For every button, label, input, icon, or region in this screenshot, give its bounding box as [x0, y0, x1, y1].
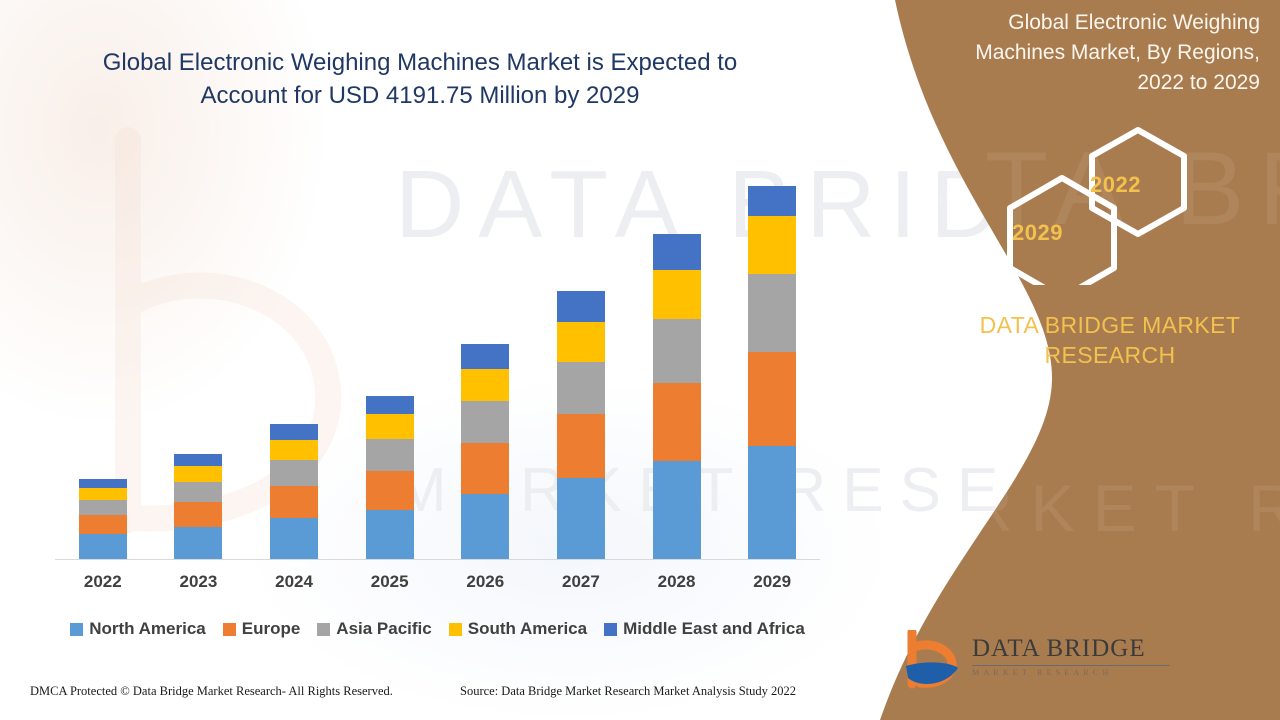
footer-source: Source: Data Bridge Market Research Mark… [460, 684, 796, 699]
chart-baseline [55, 559, 820, 560]
bar-segment-south-america [270, 440, 318, 460]
chart-legend: North AmericaEuropeAsia PacificSouth Ame… [55, 616, 820, 642]
bar-segment-asia-pacific [366, 439, 414, 471]
legend-item-asia-pacific[interactable]: Asia Pacific [317, 619, 431, 639]
bar-2023 [174, 454, 222, 559]
bar-segment-north-america [174, 527, 222, 559]
bar-segment-europe [653, 383, 701, 461]
bar-segment-south-america [748, 216, 796, 274]
hexagon-outline-icon [840, 120, 1280, 285]
bar-segment-asia-pacific [461, 401, 509, 443]
brand-panel: DATA BRIDGE MARKET RESEARCH Global Elect… [840, 0, 1280, 720]
bar-segment-north-america [653, 461, 701, 559]
bar-group [55, 170, 820, 559]
legend-swatch-icon [223, 623, 236, 636]
x-label-2028: 2028 [653, 572, 701, 598]
bar-segment-middle-east-and-africa [79, 479, 127, 488]
legend-label: Asia Pacific [336, 619, 431, 639]
bar-segment-middle-east-and-africa [270, 424, 318, 440]
x-label-2023: 2023 [174, 572, 222, 598]
bar-segment-north-america [748, 446, 796, 559]
legend-swatch-icon [317, 623, 330, 636]
bar-segment-middle-east-and-africa [748, 186, 796, 216]
data-bridge-logo-icon [900, 630, 964, 692]
bar-2022 [79, 479, 127, 559]
bar-2029 [748, 186, 796, 559]
x-label-2022: 2022 [79, 572, 127, 598]
hexagon-label-end-year: 2022 [1090, 172, 1141, 198]
legend-item-south-america[interactable]: South America [449, 619, 587, 639]
legend-swatch-icon [70, 623, 83, 636]
panel-watermark-bottom: MARKET RESEARCH [840, 470, 1280, 546]
bar-segment-europe [748, 352, 796, 446]
bar-segment-south-america [174, 466, 222, 482]
bar-segment-north-america [270, 518, 318, 559]
bar-segment-europe [270, 486, 318, 518]
x-label-2025: 2025 [366, 572, 414, 598]
bar-segment-europe [557, 414, 605, 478]
bar-segment-middle-east-and-africa [461, 344, 509, 369]
bar-segment-europe [366, 471, 414, 510]
bar-segment-south-america [366, 414, 414, 439]
bar-segment-north-america [79, 534, 127, 559]
logo-divider [972, 665, 1170, 666]
bar-segment-middle-east-and-africa [174, 454, 222, 466]
bar-segment-europe [461, 443, 509, 494]
bar-2027 [557, 291, 605, 559]
x-label-2027: 2027 [557, 572, 605, 598]
bar-segment-south-america [79, 488, 127, 500]
bar-segment-north-america [366, 510, 414, 559]
bar-segment-north-america [461, 494, 509, 559]
footer: DMCA Protected © Data Bridge Market Rese… [0, 684, 850, 706]
company-logo: DATA BRIDGE MARKET RESEARCH [900, 630, 1240, 694]
x-axis-labels: 20222023202420252026202720282029 [55, 572, 820, 598]
bar-segment-middle-east-and-africa [557, 291, 605, 322]
x-label-2026: 2026 [461, 572, 509, 598]
bar-segment-middle-east-and-africa [366, 396, 414, 414]
legend-item-north-america[interactable]: North America [70, 619, 206, 639]
bar-segment-south-america [461, 369, 509, 401]
legend-item-europe[interactable]: Europe [223, 619, 301, 639]
x-label-2029: 2029 [748, 572, 796, 598]
bar-segment-asia-pacific [653, 319, 701, 383]
panel-title: Global Electronic Weighing Machines Mark… [930, 8, 1260, 97]
bar-segment-asia-pacific [557, 362, 605, 414]
hexagon-label-start-year: 2029 [1012, 220, 1063, 246]
bar-segment-south-america [653, 270, 701, 319]
bar-segment-asia-pacific [748, 274, 796, 352]
legend-label: North America [89, 619, 206, 639]
legend-label: Middle East and Africa [623, 619, 805, 639]
bar-2028 [653, 234, 701, 559]
bar-2025 [366, 396, 414, 559]
bar-segment-europe [79, 515, 127, 534]
bar-segment-asia-pacific [270, 460, 318, 486]
legend-label: Europe [242, 619, 301, 639]
bar-segment-asia-pacific [174, 482, 222, 502]
legend-item-middle-east-and-africa[interactable]: Middle East and Africa [604, 619, 805, 639]
bar-segment-north-america [557, 478, 605, 559]
x-label-2024: 2024 [270, 572, 318, 598]
bar-segment-asia-pacific [79, 500, 127, 515]
legend-swatch-icon [449, 623, 462, 636]
bar-segment-south-america [557, 322, 605, 362]
logo-subtitle: MARKET RESEARCH [972, 669, 1170, 677]
footer-copyright: DMCA Protected © Data Bridge Market Rese… [30, 684, 393, 699]
logo-name: DATA BRIDGE [972, 636, 1170, 661]
bar-segment-europe [174, 502, 222, 527]
bar-2026 [461, 344, 509, 559]
page-title: Global Electronic Weighing Machines Mark… [60, 46, 780, 112]
bar-2024 [270, 424, 318, 559]
legend-label: South America [468, 619, 587, 639]
bar-segment-middle-east-and-africa [653, 234, 701, 270]
legend-swatch-icon [604, 623, 617, 636]
logo-wordmark: DATA BRIDGE MARKET RESEARCH [972, 636, 1170, 677]
brand-name: DATA BRIDGE MARKET RESEARCH [950, 310, 1270, 371]
chart-plot-area [55, 170, 820, 560]
hexagon-badges [840, 120, 1280, 285]
